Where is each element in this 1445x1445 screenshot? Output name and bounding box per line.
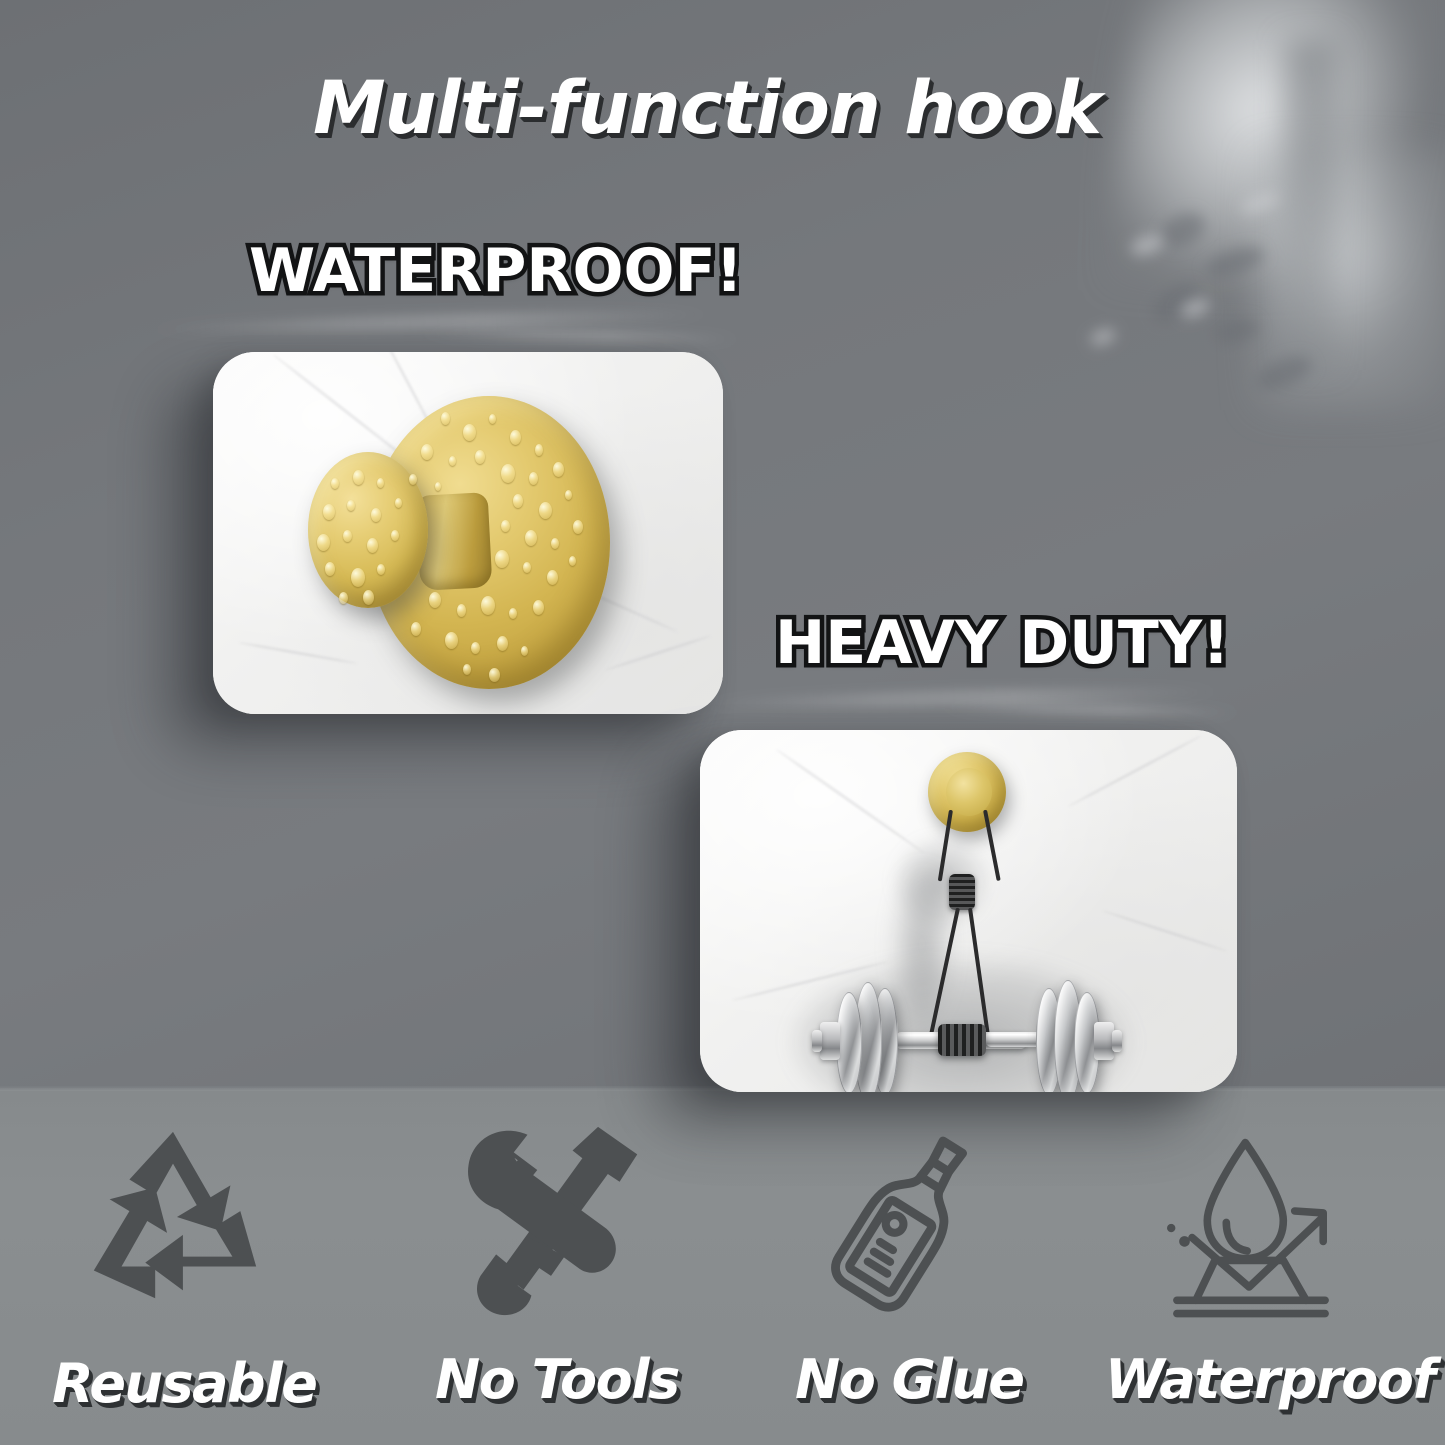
water-droplet <box>323 504 335 520</box>
panel-heavy-duty <box>700 730 1237 1092</box>
water-droplet <box>371 508 381 522</box>
water-droplet <box>475 450 485 464</box>
water-droplet <box>535 444 543 456</box>
water-droplet <box>551 538 559 549</box>
water-droplet <box>409 474 417 485</box>
dumbbell-bar <box>986 1032 1042 1047</box>
glue-bottle-icon <box>810 1124 1002 1320</box>
dumbbell-collar <box>1112 1030 1122 1052</box>
water-droplet <box>533 600 544 615</box>
water-droplet <box>553 462 564 477</box>
feature-icon-reusable <box>68 1120 278 1325</box>
water-droplet <box>513 494 523 508</box>
water-droplet <box>411 622 421 636</box>
water-droplet <box>489 414 496 424</box>
cord-coil-lower <box>938 1024 986 1056</box>
water-droplet <box>509 608 517 619</box>
water-droplet <box>347 500 355 511</box>
water-droplet <box>391 530 399 541</box>
water-droplet <box>547 570 558 585</box>
feature-label-no-tools: No Tools <box>435 1348 679 1411</box>
water-droplet <box>565 490 572 500</box>
feature-label-waterproof: Waterproof <box>1105 1348 1434 1411</box>
water-droplet <box>421 444 433 460</box>
feature-icon-no-glue <box>800 1118 1012 1325</box>
feature-label-reusable: Reusable <box>52 1352 316 1415</box>
recycle-icon <box>73 1124 273 1322</box>
water-droplet <box>497 636 508 651</box>
water-droplet <box>339 592 348 604</box>
water-droplet <box>351 568 365 587</box>
water-droplet <box>395 498 402 508</box>
water-droplet <box>501 520 510 532</box>
panel-waterproof <box>213 352 723 714</box>
water-droplet <box>325 562 335 576</box>
callout-heavy-duty: HEAVY DUTY! <box>775 608 1230 678</box>
water-droplet <box>523 562 531 573</box>
water-droplet <box>367 538 378 553</box>
water-droplet <box>463 424 476 441</box>
product-poster: Multi-function hook WATERPROOF! <box>0 0 1445 1445</box>
dumbbell-collar <box>812 1030 822 1052</box>
water-droplet <box>481 596 495 615</box>
waterproof-icon <box>1145 1135 1357 1325</box>
feature-icon-no-tools <box>440 1118 662 1324</box>
window-frame-shadow <box>1285 40 1337 370</box>
water-droplet <box>363 590 374 605</box>
dumbbell-collar <box>820 1022 840 1060</box>
water-droplet <box>331 478 339 489</box>
water-droplet <box>429 592 441 608</box>
water-droplet <box>343 530 352 542</box>
dumbbell-collar <box>1094 1022 1114 1060</box>
water-droplet <box>495 550 509 568</box>
water-droplet <box>463 664 471 675</box>
water-droplet <box>510 430 521 445</box>
water-droplet <box>489 668 500 682</box>
water-droplet <box>441 412 450 425</box>
cord-coil-upper <box>949 874 975 910</box>
water-droplet <box>573 520 583 534</box>
callout-waterproof: WATERPROOF! <box>249 236 743 306</box>
water-droplet <box>445 632 458 649</box>
feature-label-no-glue: No Glue <box>795 1348 1024 1411</box>
water-droplet <box>529 472 538 485</box>
water-droplet <box>569 556 576 566</box>
water-droplet <box>501 464 515 483</box>
water-droplet <box>457 604 466 617</box>
water-droplet <box>317 534 330 551</box>
feature-icon-waterproof <box>1140 1132 1362 1327</box>
water-droplet <box>435 482 441 491</box>
water-droplet <box>539 502 552 519</box>
water-droplet <box>521 646 528 656</box>
water-droplet <box>449 456 456 466</box>
page-title: Multi-function hook <box>313 66 1101 151</box>
water-droplet <box>377 564 385 575</box>
water-droplet <box>353 470 364 485</box>
tools-icon <box>448 1123 654 1319</box>
water-droplet <box>471 642 480 654</box>
water-droplet <box>525 530 537 546</box>
water-droplet <box>377 478 384 488</box>
